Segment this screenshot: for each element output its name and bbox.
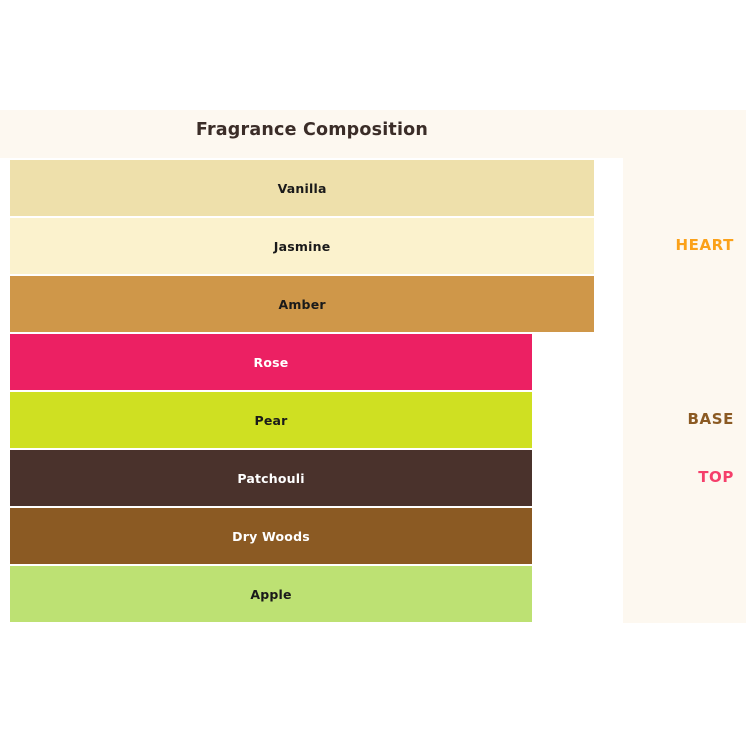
bar-vanilla[interactable]: Vanilla bbox=[10, 160, 594, 216]
bar-label: Apple bbox=[250, 587, 291, 602]
bar-amber[interactable]: Amber bbox=[10, 276, 594, 332]
bar-label: Rose bbox=[254, 355, 289, 370]
bar-dry-woods[interactable]: Dry Woods bbox=[10, 508, 532, 564]
bar-label: Vanilla bbox=[278, 181, 327, 196]
stage-label-base: BASE bbox=[688, 410, 735, 428]
stage-label-top: TOP bbox=[698, 468, 734, 486]
stage-label-heart: HEART bbox=[675, 236, 734, 254]
page-title: Fragrance Composition bbox=[0, 120, 624, 140]
bar-label: Dry Woods bbox=[232, 529, 310, 544]
bar-jasmine[interactable]: Jasmine bbox=[10, 218, 594, 274]
bar-rose[interactable]: Rose bbox=[10, 334, 532, 390]
bar-patchouli[interactable]: Patchouli bbox=[10, 450, 532, 506]
bar-pear[interactable]: Pear bbox=[10, 392, 532, 448]
bar-label: Amber bbox=[278, 297, 325, 312]
chart-figure: Fragrance Composition VanillaJasmineAmbe… bbox=[0, 110, 746, 623]
bar-label: Patchouli bbox=[237, 471, 304, 486]
bar-apple[interactable]: Apple bbox=[10, 566, 532, 622]
bar-label: Jasmine bbox=[274, 239, 331, 254]
bar-label: Pear bbox=[255, 413, 288, 428]
